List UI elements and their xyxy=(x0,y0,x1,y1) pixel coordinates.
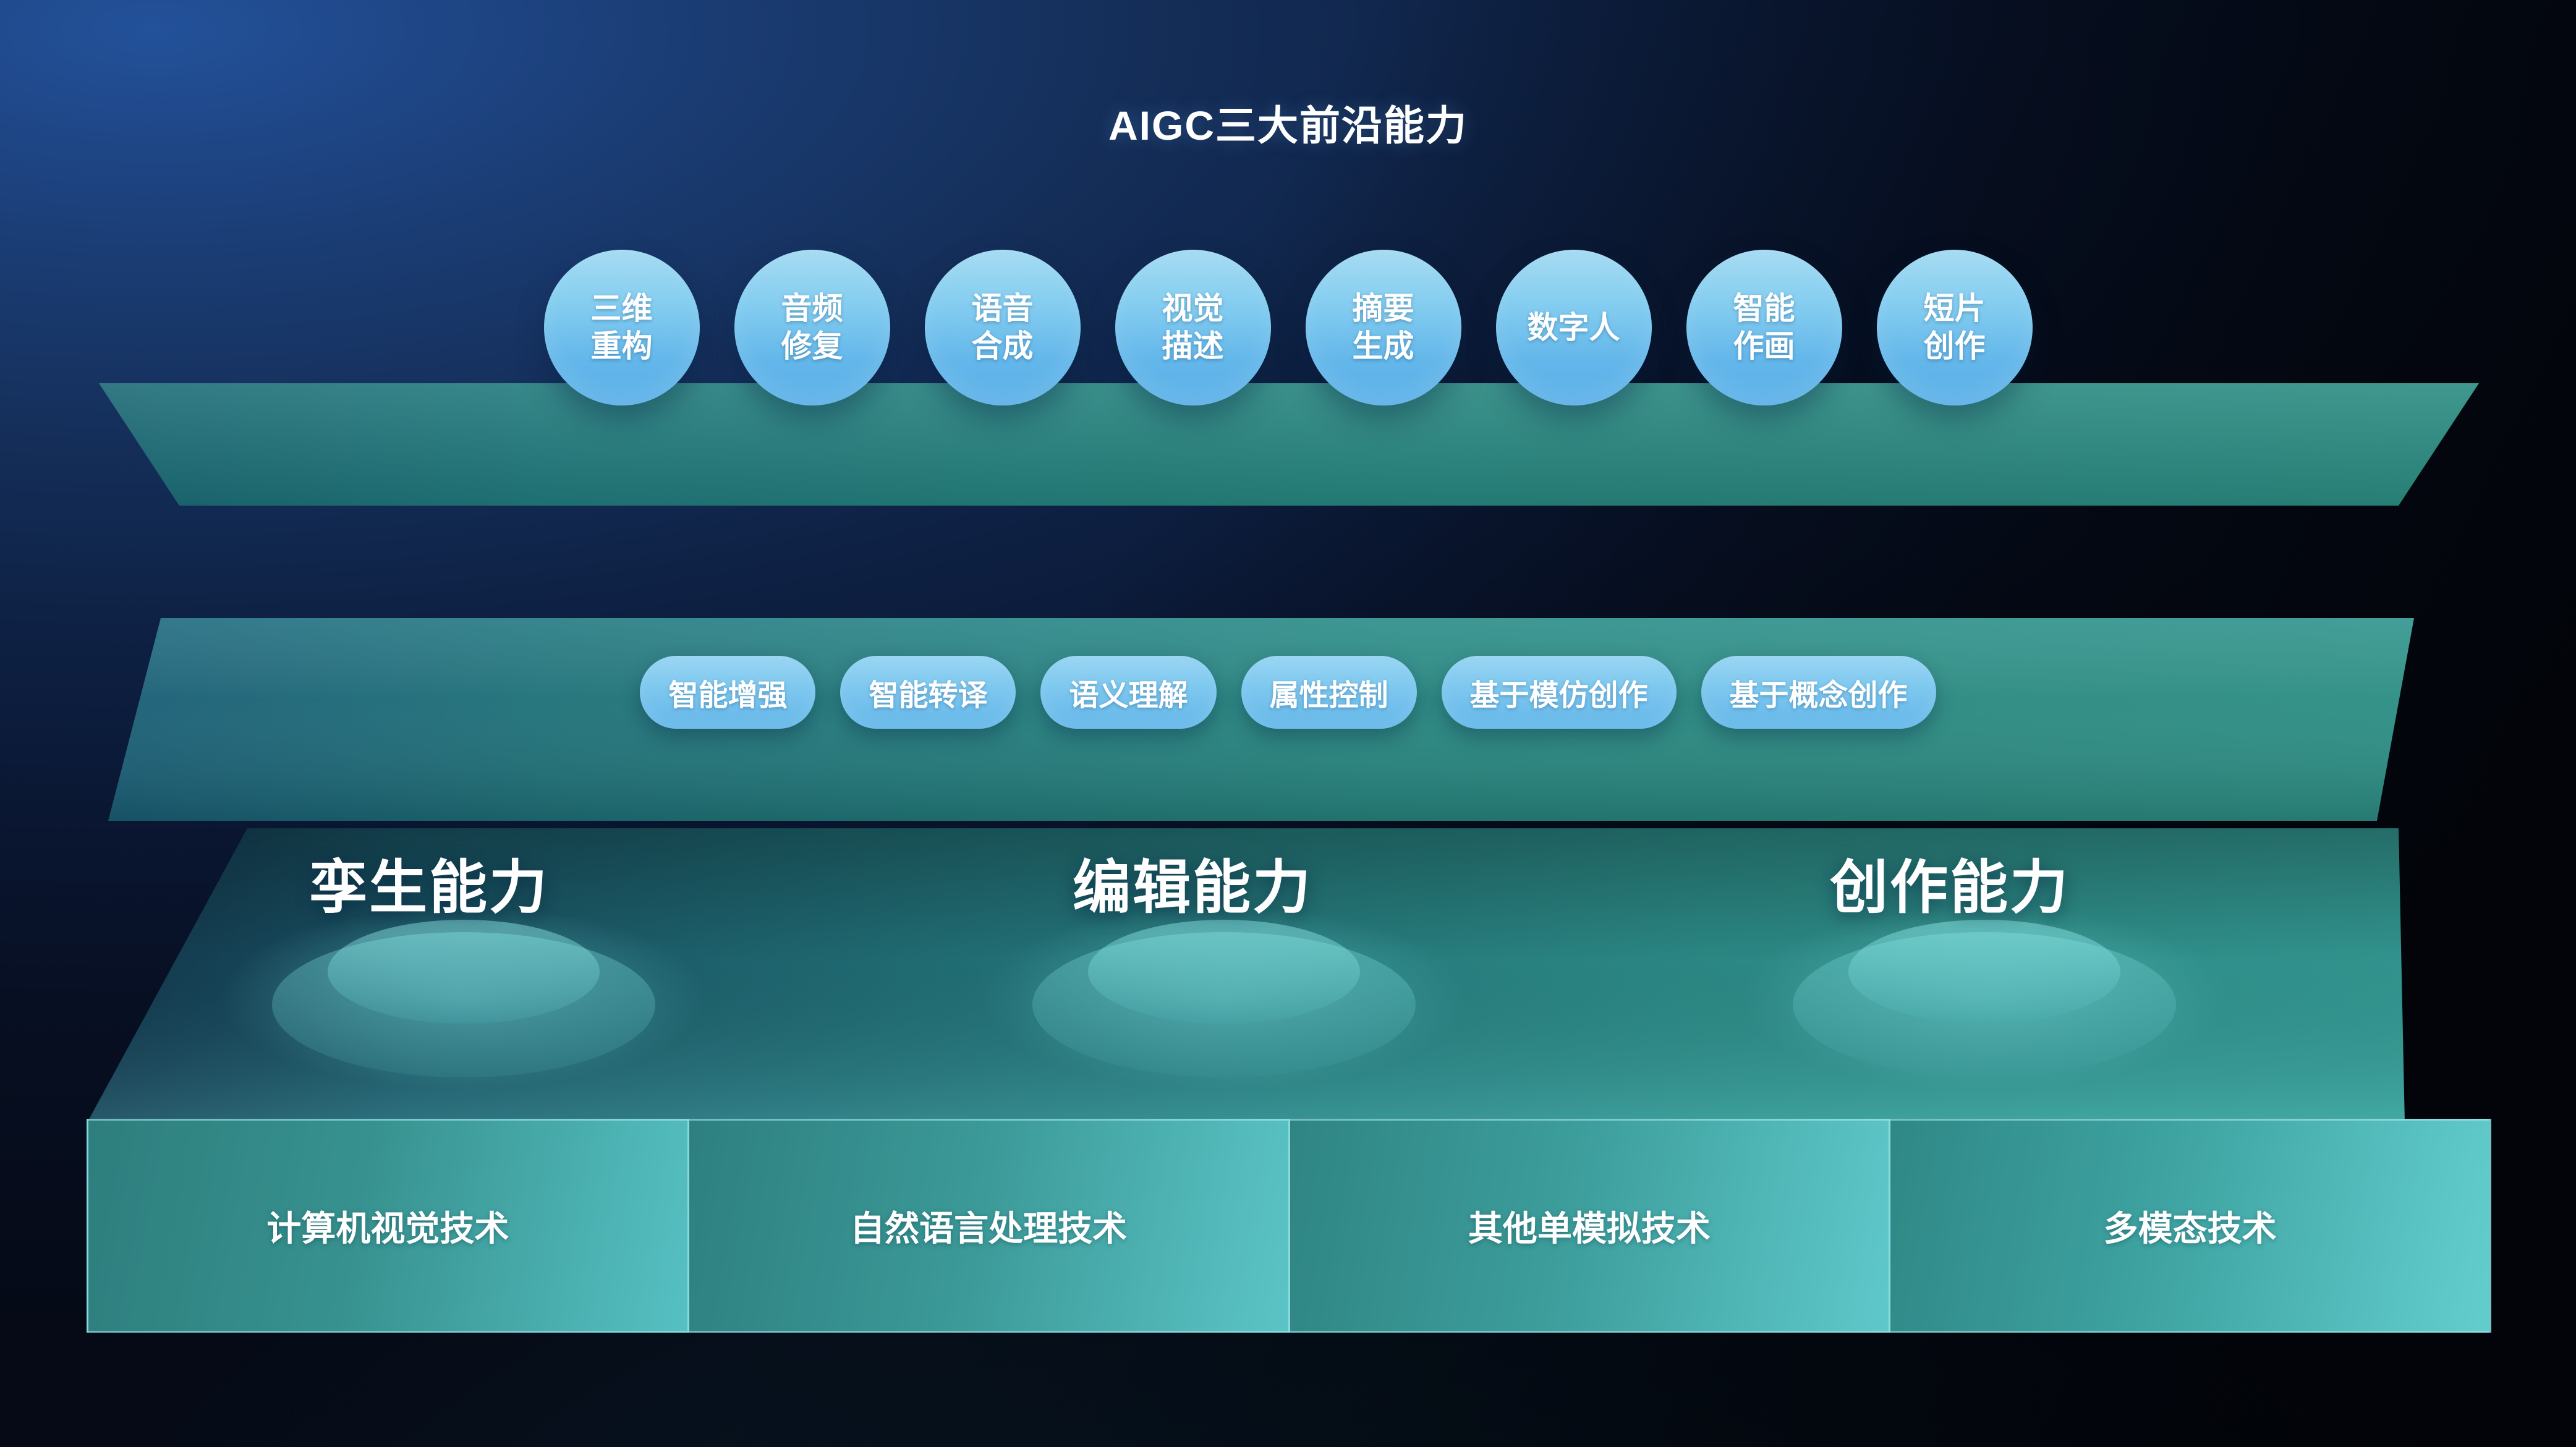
bubble-line2: 描述 xyxy=(1162,328,1224,365)
pill-intelligent-enhancement[interactable]: 智能增强 xyxy=(640,656,815,729)
tech-block-nlp[interactable]: 自然语言处理技术 xyxy=(687,1119,1290,1333)
pill-semantic-understanding[interactable]: 语义理解 xyxy=(1040,656,1216,729)
page-title: AIGC三大前沿能力 xyxy=(0,93,2576,152)
bubble-speech-synthesis[interactable]: 语音 合成 xyxy=(925,250,1081,405)
bubble-short-film-creation[interactable]: 短片 创作 xyxy=(1877,250,2033,405)
bubble-line1: 音频 xyxy=(781,290,843,328)
pill-intelligent-translation[interactable]: 智能转译 xyxy=(840,656,1016,729)
foundation-tech-row: 计算机视觉技术 自然语言处理技术 其他单模拟技术 多模态技术 xyxy=(87,1119,2491,1329)
bubble-summary-generation[interactable]: 摘要 生成 xyxy=(1306,250,1461,405)
aigc-capability-diagram: AIGC三大前沿能力 xyxy=(0,0,2576,1447)
bubble-line2: 重构 xyxy=(591,328,653,365)
bubble-digital-human[interactable]: 数字人 xyxy=(1496,250,1652,405)
bubble-audio-restoration[interactable]: 音频 修复 xyxy=(734,250,890,405)
bubble-visual-description[interactable]: 视觉 描述 xyxy=(1115,250,1271,405)
capability-label-creation: 创作能力 xyxy=(1830,841,2070,925)
bubble-line1: 视觉 xyxy=(1162,290,1224,328)
bubble-ai-painting[interactable]: 智能 作画 xyxy=(1686,250,1842,405)
frontier-capability-bubble-row: 三维 重构 音频 修复 语音 合成 视觉 描述 摘要 生成 数字人 智能 作画 … xyxy=(0,241,2576,414)
bubble-line2: 作画 xyxy=(1733,328,1795,365)
pill-concept-based-creation[interactable]: 基于概念创作 xyxy=(1701,656,1936,729)
bubble-line1: 摘要 xyxy=(1353,290,1414,328)
pill-imitation-based-creation[interactable]: 基于模仿创作 xyxy=(1442,656,1677,729)
bubble-line2: 创作 xyxy=(1924,328,1986,365)
bubble-line1: 数字人 xyxy=(1528,309,1620,347)
tech-block-other-unimodal[interactable]: 其他单模拟技术 xyxy=(1288,1119,1891,1333)
capability-label-editing: 编辑能力 xyxy=(1073,841,1312,925)
pill-attribute-control[interactable]: 属性控制 xyxy=(1241,656,1417,729)
bubble-line1: 语音 xyxy=(972,290,1034,328)
bubble-line1: 短片 xyxy=(1924,290,1986,328)
bubble-line2: 生成 xyxy=(1353,328,1414,365)
tech-block-computer-vision[interactable]: 计算机视觉技术 xyxy=(87,1119,689,1333)
bubble-line2: 合成 xyxy=(972,328,1034,365)
tech-block-multimodal[interactable]: 多模态技术 xyxy=(1889,1119,2491,1333)
capability-label-row: 孪生能力 编辑能力 创作能力 xyxy=(0,841,2576,921)
bubble-3d-reconstruction[interactable]: 三维 重构 xyxy=(544,250,700,405)
bubble-line2: 修复 xyxy=(781,328,843,365)
bubble-line1: 智能 xyxy=(1733,290,1795,328)
capability-method-pill-row: 智能增强 智能转译 语义理解 属性控制 基于模仿创作 基于概念创作 xyxy=(0,652,2576,732)
capability-label-twin: 孪生能力 xyxy=(309,841,549,925)
bubble-line1: 三维 xyxy=(591,290,653,328)
